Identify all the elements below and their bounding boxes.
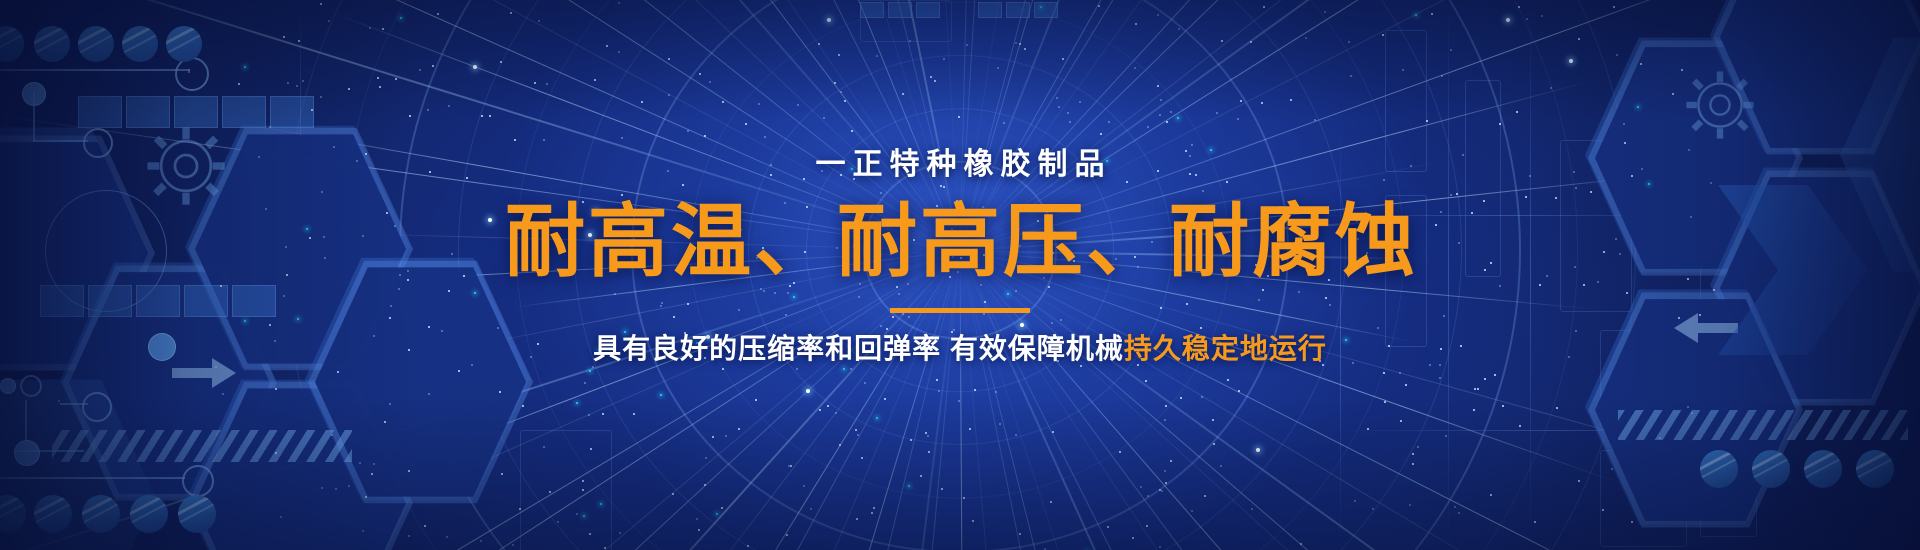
divider-bar	[890, 308, 1030, 313]
page-title: 耐高温、耐高压、耐腐蚀	[0, 202, 1920, 282]
hero-banner: 一正特种橡胶制品 耐高温、耐高压、耐腐蚀 具有良好的压缩率和回弹率 有效保障机械…	[0, 0, 1920, 550]
divider	[0, 308, 1920, 313]
subtitle-text-orange: 持久稳定地运行	[1124, 333, 1327, 364]
striped-bar-icon	[52, 430, 352, 462]
banner-subtitle: 具有良好的压缩率和回弹率 有效保障机械持久稳定地运行	[0, 335, 1920, 363]
subtitle-text-white: 具有良好的压缩率和回弹率 有效保障机械	[593, 333, 1124, 364]
brand-eyebrow: 一正特种橡胶制品	[0, 150, 1920, 180]
striped-bar-right-icon	[1618, 410, 1908, 440]
banner-content: 一正特种橡胶制品 耐高温、耐高压、耐腐蚀 具有良好的压缩率和回弹率 有效保障机械…	[0, 150, 1920, 363]
gear-right-icon	[1680, 65, 1760, 145]
